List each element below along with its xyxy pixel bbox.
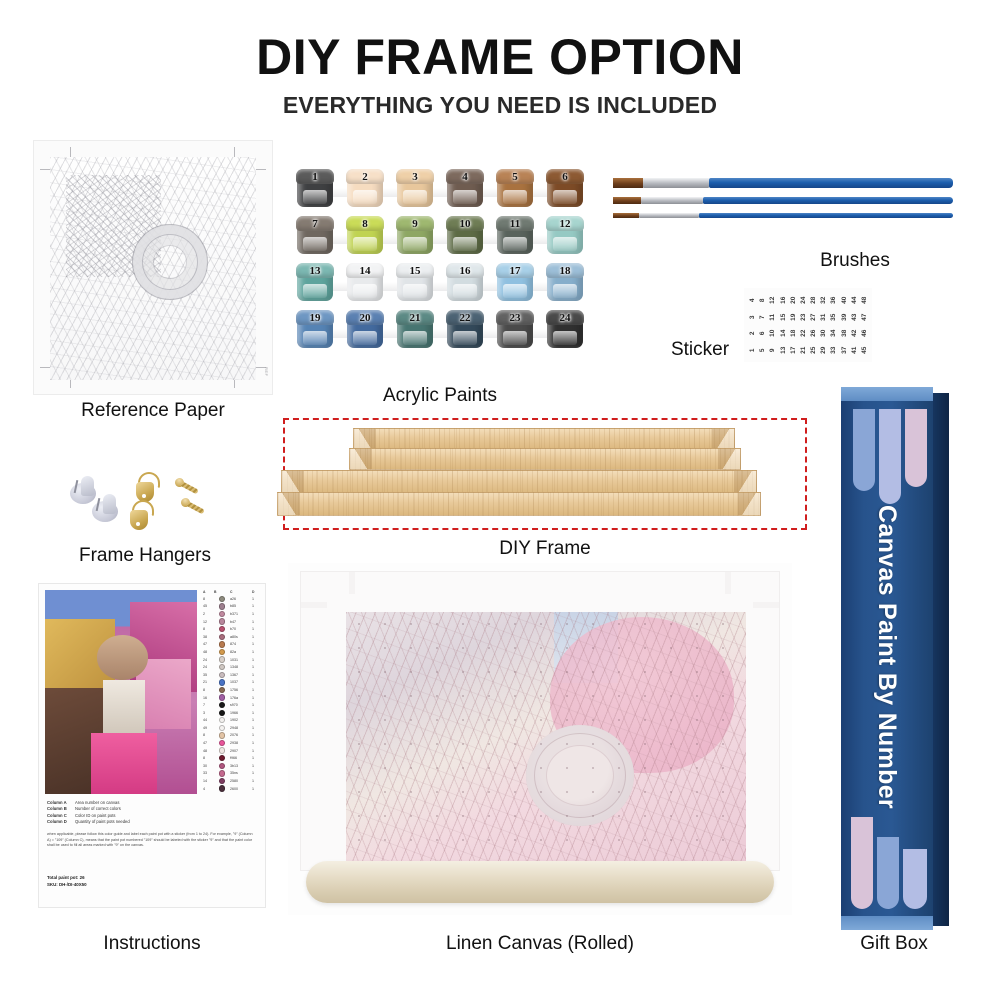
instructions-table-row: 426001: [203, 785, 261, 793]
inst-color-swatch: [219, 649, 225, 655]
instructions-table-row: 4729381: [203, 739, 261, 747]
inst-color-swatch: [219, 618, 225, 624]
paint-pot-number: 11: [495, 218, 535, 230]
inst-color-code: 176a: [230, 696, 252, 700]
inst-color-swatch: [219, 596, 225, 602]
caption-acrylic-paints: Acrylic Paints: [295, 385, 585, 407]
paint-pot-number: 8: [345, 218, 385, 230]
paint-pot-17: 17: [495, 262, 535, 302]
inst-area-number: 48: [203, 650, 214, 654]
instructions-table-row: 820761: [203, 732, 261, 740]
paint-pot-row: 131415161718: [295, 262, 585, 306]
paint-pot-strip: [301, 329, 579, 338]
gift-box-accent-shape: [853, 409, 875, 491]
paint-pot-1: 1: [295, 168, 335, 208]
inst-quantity: 1: [252, 620, 261, 624]
diy-frame-group: [283, 418, 807, 530]
inst-quantity: 1: [252, 627, 261, 631]
inst-color-swatch: [219, 770, 225, 776]
instructions-table-row: 2413481: [203, 663, 261, 671]
instructions-legend-text: Area number on canvas: [75, 800, 119, 805]
inst-color-swatch: [219, 725, 225, 731]
instructions-table-row: 478741: [203, 641, 261, 649]
instructions-table-row: 2b3711: [203, 610, 261, 618]
inst-area-number: 3: [203, 711, 214, 715]
sticker-number-grid: 4812162024283236404448371115192327313539…: [747, 292, 869, 358]
instructions-table-header: ABCD: [203, 590, 261, 594]
paint-pot-24: 24: [545, 309, 585, 349]
paint-pot-number: 24: [545, 312, 585, 324]
inst-area-number: 8: [203, 756, 214, 760]
sticker-sheet: 4812162024283236404448371115192327313539…: [744, 288, 872, 362]
inst-quantity: 1: [252, 756, 261, 760]
inst-color-code: a80s: [230, 635, 252, 639]
sticker-number: 48: [856, 295, 873, 305]
instructions-table-row: 303b131: [203, 762, 261, 770]
paint-pot-2: 2: [345, 168, 385, 208]
sku-value: DH-/DI-40X50: [59, 882, 87, 887]
d-ring-hanger-icon: [136, 472, 162, 502]
inst-color-swatch: [219, 679, 225, 685]
inst-color-swatch: [219, 634, 225, 640]
inst-color-code: 1031: [230, 658, 252, 662]
paint-pot-number: 17: [495, 265, 535, 277]
inst-quantity: 1: [252, 741, 261, 745]
inst-color-code: 1966: [230, 711, 252, 715]
gift-box-accent-shape: [877, 837, 899, 909]
paint-pot-number: 15: [395, 265, 435, 277]
gift-box-accent-shape: [851, 817, 873, 909]
paint-pot-number: 7: [295, 218, 335, 230]
inst-area-number: 45: [203, 604, 214, 608]
inst-area-number: 8: [203, 627, 214, 631]
instructions-table-row: 4419021: [203, 717, 261, 725]
gift-box-accent-shape: [905, 409, 927, 487]
instructions-table-row: 2410311: [203, 656, 261, 664]
inst-color-swatch: [219, 664, 225, 670]
paint-pot-number: 12: [545, 218, 585, 230]
inst-quantity: 1: [252, 612, 261, 616]
inst-color-code: b70: [230, 627, 252, 631]
total-paint-pot-value: 26: [80, 875, 85, 880]
inst-quantity: 1: [252, 650, 261, 654]
inst-color-code: 1348: [230, 665, 252, 669]
inst-area-number: 47: [203, 642, 214, 646]
instructions-column-legend: Column AArea number on canvasColumn BNum…: [47, 800, 197, 826]
inst-color-swatch: [219, 747, 225, 753]
acrylic-paints-group: 123456789101112131415161718192021222324: [295, 168, 585, 358]
instructions-table-row: 817561: [203, 686, 261, 694]
paint-pot-12: 12: [545, 215, 585, 255]
inst-color-code: 2907: [230, 749, 252, 753]
instructions-table-row: 2110371: [203, 679, 261, 687]
inst-color-code: 2580: [230, 779, 252, 783]
inst-quantity: 1: [252, 688, 261, 692]
paint-brush-round-brush: [613, 197, 953, 204]
inst-area-number: 38: [203, 635, 214, 639]
inst-quantity: 1: [252, 787, 261, 791]
paint-pot-number: 6: [545, 171, 585, 183]
reference-paper-side-code: REF: [264, 367, 269, 377]
inst-color-code: 1037: [230, 680, 252, 684]
instructions-table-row: 1425801: [203, 777, 261, 785]
instructions-color-table: ABCD 8a26145b8512b371112b4718b70138a80s1…: [203, 590, 261, 818]
paint-pot-number: 18: [545, 265, 585, 277]
inst-quantity: 1: [252, 703, 261, 707]
paint-pot-row: 789101112: [295, 215, 585, 259]
wood-bar: [349, 448, 741, 470]
instructions-table-row: 8a261: [203, 595, 261, 603]
paint-pot-number: 3: [395, 171, 435, 183]
inst-area-number: 21: [203, 680, 214, 684]
paint-pot-strip: [301, 235, 579, 244]
paint-pot-20: 20: [345, 309, 385, 349]
inst-color-code: 3b13: [230, 764, 252, 768]
caption-diy-frame: DIY Frame: [283, 538, 807, 560]
inst-area-number: 33: [203, 771, 214, 775]
inst-color-swatch: [219, 740, 225, 746]
inst-color-swatch: [219, 763, 225, 769]
inst-color-code: b85: [230, 604, 252, 608]
paint-pot-number: 19: [295, 312, 335, 324]
inst-quantity: 1: [252, 771, 261, 775]
inst-quantity: 1: [252, 635, 261, 639]
inst-quantity: 1: [252, 673, 261, 677]
paint-brush-detail-brush: [613, 213, 953, 218]
instructions-footer: Total paint pot: 26 SKU: DH-/DI-40X50: [47, 874, 257, 889]
instructions-table-row: 7s9701: [203, 701, 261, 709]
inst-color-swatch: [219, 611, 225, 617]
wall-hook-icon: [92, 496, 122, 522]
inst-color-swatch: [219, 626, 225, 632]
reference-paper-lineart: [50, 157, 256, 380]
paint-pot-number: 9: [395, 218, 435, 230]
wood-bar: [353, 428, 735, 450]
linen-canvas-image: [288, 563, 792, 915]
inst-area-number: 7: [203, 703, 214, 707]
caption-brushes: Brushes: [760, 250, 950, 272]
canvas-sheet: [300, 571, 780, 871]
paint-pot-15: 15: [395, 262, 435, 302]
paint-pot-23: 23: [495, 309, 535, 349]
inst-area-number: 4: [203, 787, 214, 791]
inst-color-swatch: [219, 641, 225, 647]
inst-color-code: s970: [230, 703, 252, 707]
inst-quantity: 1: [252, 726, 261, 730]
inst-color-code: 2076: [230, 733, 252, 737]
instructions-legend-text: Quantity of paint pots needed: [75, 819, 130, 824]
paint-pot-row: 123456: [295, 168, 585, 212]
paint-pot-number: 14: [345, 265, 385, 277]
brushes-group: [613, 172, 953, 240]
instructions-table-row: 16176a1: [203, 694, 261, 702]
paint-pot-6: 6: [545, 168, 585, 208]
inst-color-code: f966: [230, 756, 252, 760]
paint-pot-8: 8: [345, 215, 385, 255]
instructions-table-row: 38a80s1: [203, 633, 261, 641]
paint-brush-flat-brush: [613, 178, 953, 188]
instructions-table-row: 4929481: [203, 724, 261, 732]
paint-pot-3: 3: [395, 168, 435, 208]
sku-label: SKU:: [47, 882, 58, 887]
paint-pot-5: 5: [495, 168, 535, 208]
inst-color-code: b371: [230, 612, 252, 616]
sticker-number: 45: [856, 345, 873, 355]
inst-area-number: 30: [203, 764, 214, 768]
instructions-sheet: ABCD 8a26145b8512b371112b4718b70138a80s1…: [38, 583, 266, 908]
inst-quantity: 1: [252, 718, 261, 722]
instructions-table-row: 3513671: [203, 671, 261, 679]
inst-quantity: 1: [252, 665, 261, 669]
canvas-printed-lineart: [346, 612, 746, 864]
inst-color-code: a26: [230, 597, 252, 601]
paint-pot-number: 4: [445, 171, 485, 183]
paint-pot-row: 192021222324: [295, 309, 585, 353]
inst-area-number: 2: [203, 612, 214, 616]
screw-icon: [173, 476, 200, 496]
paint-pot-number: 20: [345, 312, 385, 324]
inst-color-swatch: [219, 717, 225, 723]
inst-color-swatch: [219, 603, 225, 609]
instructions-table-row: 319661: [203, 709, 261, 717]
canvas-rolled-edge: [306, 861, 774, 903]
inst-area-number: 35: [203, 673, 214, 677]
gift-box-label: Canvas Paint By Number: [757, 611, 1000, 703]
inst-quantity: 1: [252, 711, 261, 715]
inst-area-number: 16: [203, 696, 214, 700]
paint-pot-number: 23: [495, 312, 535, 324]
instructions-preview-image: [45, 590, 197, 794]
inst-color-code: b47: [230, 620, 252, 624]
gift-box-accent-shape: [903, 849, 927, 909]
caption-instructions: Instructions: [38, 933, 266, 955]
inst-color-swatch: [219, 778, 225, 784]
instructions-table-row: 3335ns1: [203, 770, 261, 778]
instructions-legend-row: Column DQuantity of paint pots needed: [47, 819, 197, 825]
instructions-table-row: 4882a1: [203, 648, 261, 656]
inst-area-number: 14: [203, 779, 214, 783]
inst-quantity: 1: [252, 642, 261, 646]
inst-quantity: 1: [252, 764, 261, 768]
inst-color-swatch: [219, 755, 225, 761]
instructions-table-row: 4829071: [203, 747, 261, 755]
inst-color-swatch: [219, 710, 225, 716]
gift-box-image: Canvas Paint By Number: [833, 387, 955, 930]
total-paint-pot-label: Total paint pot:: [47, 875, 78, 880]
instructions-table-row: 8f9661: [203, 754, 261, 762]
inst-color-swatch: [219, 672, 225, 678]
sticker-number: 47: [856, 312, 873, 322]
inst-area-number: 8: [203, 733, 214, 737]
wood-bar: [281, 470, 757, 494]
inst-quantity: 1: [252, 597, 261, 601]
paint-pot-10: 10: [445, 215, 485, 255]
paint-pot-16: 16: [445, 262, 485, 302]
inst-quantity: 1: [252, 733, 261, 737]
paint-pot-22: 22: [445, 309, 485, 349]
inst-color-code: 2600: [230, 787, 252, 791]
caption-reference-paper: Reference Paper: [33, 400, 273, 422]
paint-pot-number: 16: [445, 265, 485, 277]
paint-pot-14: 14: [345, 262, 385, 302]
inst-quantity: 1: [252, 680, 261, 684]
inst-area-number: 24: [203, 665, 214, 669]
instructions-legend-text: Number of correct colors: [75, 806, 121, 811]
inst-color-code: 1902: [230, 718, 252, 722]
inst-color-swatch: [219, 702, 225, 708]
instructions-body-text: when applicable, please follow this colo…: [47, 832, 257, 849]
inst-quantity: 1: [252, 658, 261, 662]
paint-pot-11: 11: [495, 215, 535, 255]
paint-pot-number: 22: [445, 312, 485, 324]
caption-sticker: Sticker: [660, 339, 740, 361]
paint-pot-number: 21: [395, 312, 435, 324]
inst-color-code: 2948: [230, 726, 252, 730]
inst-color-code: 2938: [230, 741, 252, 745]
inst-area-number: 12: [203, 620, 214, 624]
caption-gift-box: Gift Box: [833, 933, 955, 955]
instructions-legend-text: Color ID on paint pots: [75, 813, 116, 818]
paint-pot-number: 10: [445, 218, 485, 230]
inst-color-code: 1367: [230, 673, 252, 677]
inst-color-code: 874: [230, 642, 252, 646]
gift-box-accent-shape: [879, 409, 901, 504]
inst-color-swatch: [219, 694, 225, 700]
caption-frame-hangers: Frame Hangers: [35, 545, 255, 567]
inst-area-number: 48: [203, 749, 214, 753]
paint-pot-19: 19: [295, 309, 335, 349]
frame-hangers-group: [68, 468, 218, 540]
product-infographic: DIY FRAME OPTION EVERYTHING YOU NEED IS …: [0, 0, 1000, 1000]
inst-color-code: 35ns: [230, 771, 252, 775]
paint-pot-strip: [301, 282, 579, 291]
inst-color-code: 82a: [230, 650, 252, 654]
paint-pot-number: 2: [345, 171, 385, 183]
instructions-table-row: 45b851: [203, 603, 261, 611]
paint-pot-21: 21: [395, 309, 435, 349]
paint-pot-4: 4: [445, 168, 485, 208]
instructions-table-row: 12b471: [203, 618, 261, 626]
sticker-number: 46: [856, 328, 873, 338]
inst-color-swatch: [219, 785, 225, 791]
inst-area-number: 8: [203, 688, 214, 692]
screw-icon: [179, 496, 206, 516]
paint-pot-number: 1: [295, 171, 335, 183]
inst-quantity: 1: [252, 604, 261, 608]
inst-color-swatch: [219, 656, 225, 662]
paint-pot-number: 5: [495, 171, 535, 183]
paint-pot-number: 13: [295, 265, 335, 277]
instructions-legend-key: Column D: [47, 819, 75, 825]
caption-linen-canvas: Linen Canvas (Rolled): [288, 933, 792, 955]
inst-area-number: 8: [203, 597, 214, 601]
inst-area-number: 24: [203, 658, 214, 662]
reference-paper-image: REF: [33, 140, 273, 395]
inst-area-number: 44: [203, 718, 214, 722]
page-subtitle: EVERYTHING YOU NEED IS INCLUDED: [0, 92, 1000, 119]
inst-quantity: 1: [252, 749, 261, 753]
inst-quantity: 1: [252, 779, 261, 783]
inst-color-code: 1756: [230, 688, 252, 692]
instructions-table-row: 8b701: [203, 625, 261, 633]
inst-area-number: 47: [203, 741, 214, 745]
inst-color-swatch: [219, 732, 225, 738]
inst-quantity: 1: [252, 696, 261, 700]
paint-pot-9: 9: [395, 215, 435, 255]
wood-bar: [277, 492, 761, 516]
inst-color-swatch: [219, 687, 225, 693]
paint-pot-13: 13: [295, 262, 335, 302]
page-title: DIY FRAME OPTION: [0, 28, 1000, 86]
d-ring-hanger-icon: [130, 500, 156, 530]
inst-area-number: 49: [203, 726, 214, 730]
paint-pot-7: 7: [295, 215, 335, 255]
paint-pot-strip: [301, 188, 579, 197]
paint-pot-18: 18: [545, 262, 585, 302]
